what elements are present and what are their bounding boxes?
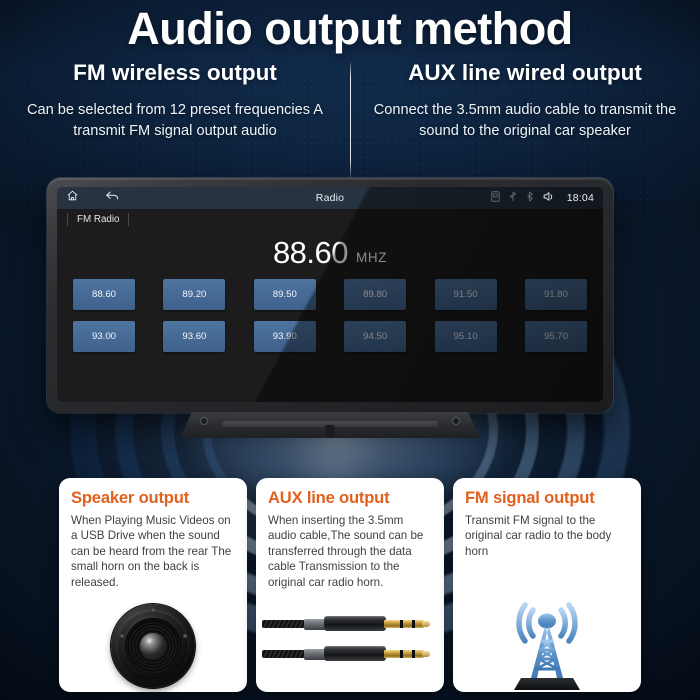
aux-braided-cable	[262, 650, 306, 658]
device-mockup: Radio	[30, 178, 630, 438]
speaker-screw	[151, 608, 155, 612]
preset-button[interactable]: 88.60	[73, 279, 135, 310]
frequency-display: 88.60 MHZ	[57, 229, 603, 271]
preset-button[interactable]: 95.10	[435, 321, 497, 352]
card-fm-signal-output: FM signal output Transmit FM signal to t…	[453, 478, 641, 692]
card-title: FM signal output	[465, 487, 629, 508]
header-columns: FM wireless output Can be selected from …	[0, 60, 700, 141]
device-screen[interactable]: Radio	[57, 187, 603, 402]
header-column-fm: FM wireless output Can be selected from …	[0, 60, 350, 141]
aux-strain-relief	[304, 649, 326, 660]
preset-button[interactable]: 91.50	[435, 279, 497, 310]
preset-button[interactable]: 91.80	[525, 279, 587, 310]
status-bar-clock: 18:04	[567, 192, 594, 204]
aux-cable-group	[256, 600, 444, 692]
radio-tower-icon	[453, 600, 641, 692]
preset-button[interactable]: 93.90	[254, 321, 316, 352]
feature-cards: Speaker output When Playing Music Videos…	[0, 478, 700, 692]
aux-plug-barrel	[324, 616, 386, 631]
card-description: When Playing Music Videos on a USB Drive…	[71, 513, 235, 590]
device-body: Radio	[47, 178, 613, 413]
card-title: Speaker output	[71, 487, 235, 508]
radio-tower-group	[453, 600, 641, 692]
aux-contact-band	[400, 620, 403, 628]
card-title: AUX line output	[268, 487, 432, 508]
status-bar-left	[66, 189, 120, 207]
tab-fm-radio[interactable]: FM Radio	[67, 213, 129, 226]
card-speaker-output: Speaker output When Playing Music Videos…	[59, 478, 247, 692]
page-title: Audio output method	[0, 2, 700, 56]
preset-button[interactable]: 89.80	[344, 279, 406, 310]
aux-contact-band	[412, 620, 415, 628]
header-column-divider	[350, 62, 351, 178]
speaker-dust-cap	[140, 633, 166, 659]
home-icon[interactable]	[66, 189, 79, 207]
preset-button[interactable]: 95.70	[525, 321, 587, 352]
device-stand-screw-left	[201, 418, 207, 424]
preset-row: 93.00 93.60 93.90 94.50 95.10 95.70	[73, 321, 587, 352]
aux-gold-contact	[384, 620, 424, 628]
status-bar-right: 18:04	[491, 189, 594, 207]
aux-contact-band	[400, 650, 403, 658]
aux-gold-contact	[384, 650, 424, 658]
device-stand-screw-right	[453, 418, 459, 424]
aux-cable-image	[256, 600, 444, 692]
card-description: Transmit FM signal to the original car r…	[465, 513, 629, 559]
aux-plug-tip	[422, 621, 430, 627]
device-stand-clip	[326, 425, 335, 437]
preset-grid: 88.60 89.20 89.50 89.80 91.50 91.80 93.0…	[57, 271, 603, 402]
speaker-cone	[111, 604, 195, 688]
header-description-fm: Can be selected from 12 preset frequenci…	[14, 100, 336, 141]
header-subtitle-aux: AUX line wired output	[364, 60, 686, 86]
speaker-driver-image	[59, 600, 247, 692]
volume-icon[interactable]	[543, 189, 554, 207]
aux-strain-relief	[304, 619, 326, 630]
aux-plug-barrel	[324, 646, 386, 661]
header: Audio output method FM wireless output C…	[0, 0, 700, 141]
frequency-unit: MHZ	[356, 250, 387, 265]
aux-braided-cable	[262, 620, 306, 628]
sim-card-icon	[491, 189, 500, 207]
radio-tower-svg	[483, 600, 611, 692]
aux-plug-tip	[422, 651, 430, 657]
gps-icon	[509, 189, 517, 207]
speaker-screw	[120, 634, 124, 638]
device-stand	[180, 412, 480, 438]
preset-button[interactable]: 93.60	[163, 321, 225, 352]
preset-button[interactable]: 93.00	[73, 321, 135, 352]
speaker-screw	[183, 634, 187, 638]
header-column-aux: AUX line wired output Connect the 3.5mm …	[350, 60, 700, 141]
back-arrow-icon[interactable]	[105, 189, 120, 207]
status-bar: Radio	[57, 187, 603, 209]
card-aux-line-output: AUX line output When inserting the 3.5mm…	[256, 478, 444, 692]
preset-button[interactable]: 89.50	[254, 279, 316, 310]
header-description-aux: Connect the 3.5mm audio cable to transmi…	[364, 100, 686, 141]
tab-bar: FM Radio	[57, 209, 603, 229]
aux-plug	[262, 646, 432, 661]
preset-button[interactable]: 94.50	[344, 321, 406, 352]
preset-button[interactable]: 89.20	[163, 279, 225, 310]
aux-contact-band	[412, 650, 415, 658]
preset-row: 88.60 89.20 89.50 89.80 91.50 91.80	[73, 279, 587, 310]
aux-plug	[262, 616, 432, 631]
header-subtitle-fm: FM wireless output	[14, 60, 336, 86]
bluetooth-icon	[526, 189, 534, 207]
frequency-value: 88.60	[273, 237, 348, 269]
card-description: When inserting the 3.5mm audio cable,The…	[268, 513, 432, 590]
